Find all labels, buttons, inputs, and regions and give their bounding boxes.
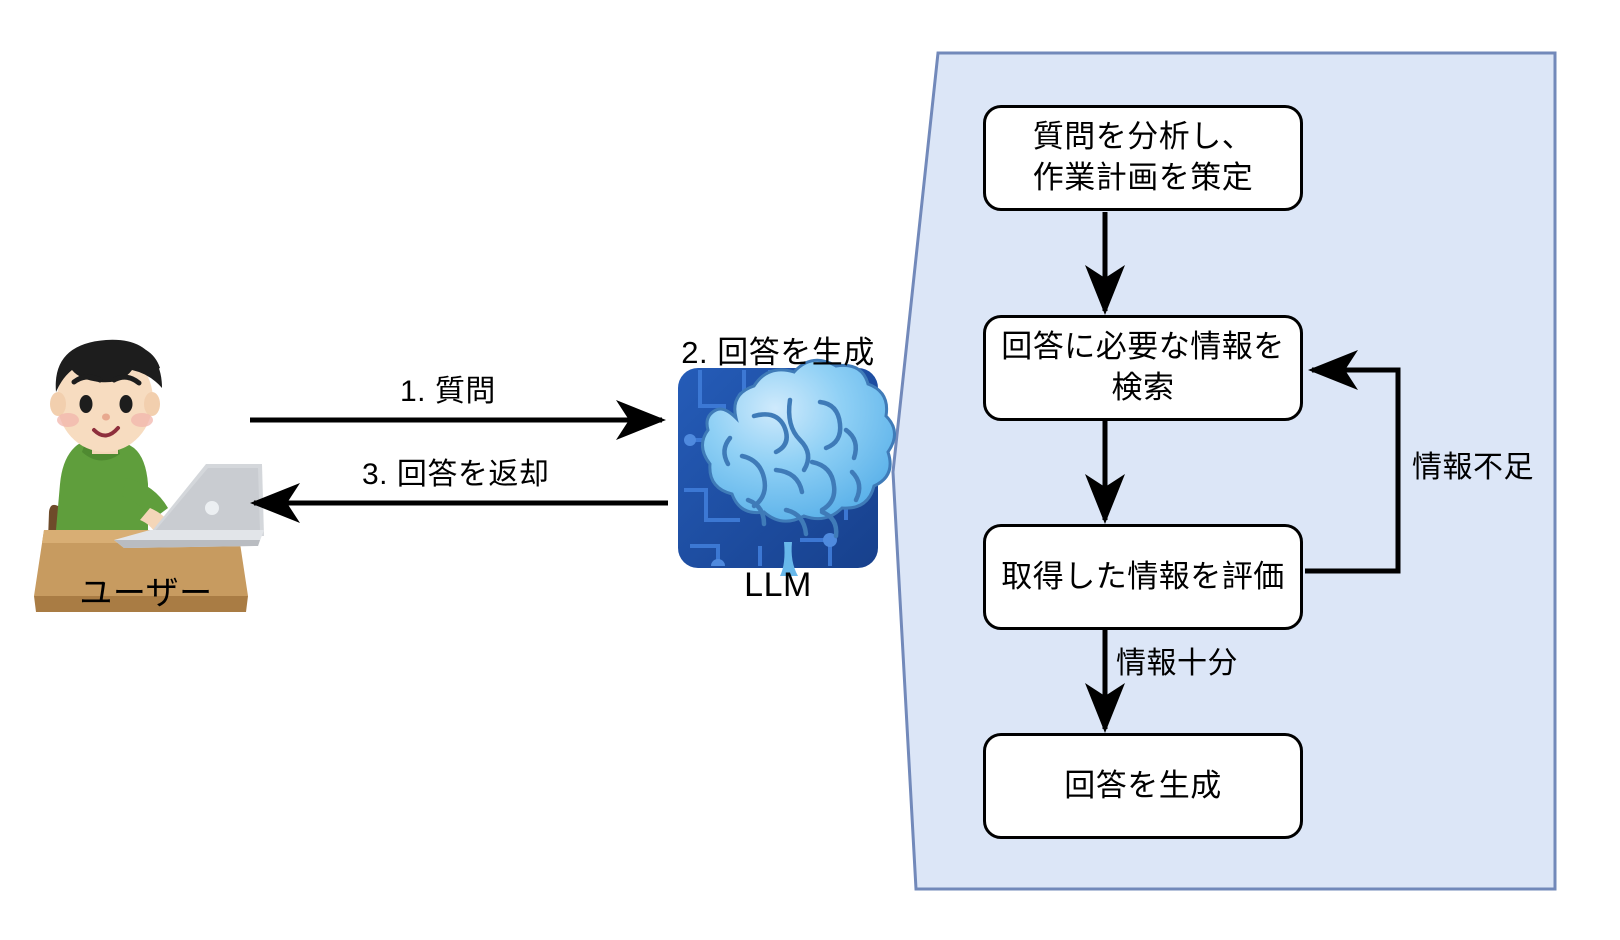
message-label-question: 1. 質問 bbox=[400, 366, 496, 410]
flow-step-search-information[interactable]: 回答に必要な情報を 検索 bbox=[983, 315, 1303, 421]
message-label-answer: 3. 回答を返却 bbox=[362, 449, 549, 493]
user-label: ユーザー bbox=[0, 566, 292, 614]
llm-chip-illustration bbox=[678, 360, 895, 576]
flow-step-generate-answer[interactable]: 回答を生成 bbox=[983, 733, 1303, 839]
flow-step-evaluate-information[interactable]: 取得した情報を評価 bbox=[983, 524, 1303, 630]
edge-label-insufficient: 情報不足 bbox=[1412, 442, 1534, 486]
diagram-canvas: ユーザー LLM 2. 回答を生成 1. 質問 3. 回答を返却 情報不足 情報… bbox=[0, 0, 1620, 940]
llm-top-label: 2. 回答を生成 bbox=[648, 327, 908, 372]
diagram-vector-layer bbox=[0, 0, 1620, 940]
flow-step-analyze-question[interactable]: 質問を分析し、 作業計画を策定 bbox=[983, 105, 1303, 211]
llm-label: LLM bbox=[678, 566, 878, 605]
edge-label-sufficient: 情報十分 bbox=[1116, 638, 1238, 682]
